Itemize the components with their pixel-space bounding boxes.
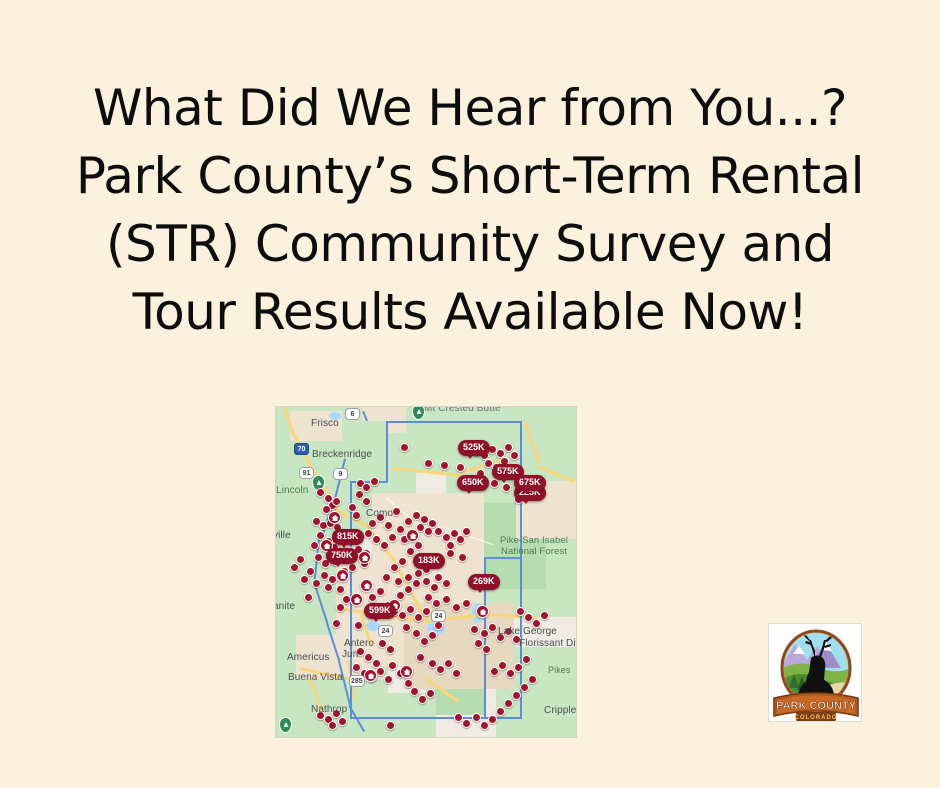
map-canvas: 525K 575K 650K 225K 675K 815K 750K 183K … [276,407,576,737]
str-house-marker[interactable] [358,551,371,564]
str-marker[interactable] [392,507,401,516]
str-marker[interactable] [396,525,405,534]
str-house-marker[interactable] [476,605,489,618]
park-county-logo[interactable]: PARK COUNTY COLORADO [768,623,862,722]
str-marker[interactable] [452,669,461,678]
price-bubble[interactable]: 269K [468,574,500,590]
map-place-label: Americus [287,652,329,663]
str-marker[interactable] [388,533,397,542]
str-marker[interactable] [414,613,423,622]
str-marker[interactable] [328,721,337,730]
str-marker[interactable] [376,667,385,676]
str-marker[interactable] [462,527,471,536]
price-bubble-label: 525K [463,442,485,452]
str-marker[interactable] [400,443,409,452]
str-marker[interactable] [416,653,425,662]
map-place-label: ville [275,530,291,541]
map-place-label: Cripple [544,705,576,716]
map-place-label: Divide [566,638,577,649]
map-place-label: Breckenridge [312,449,372,460]
park-county-logo-svg: PARK COUNTY COLORADO [769,624,863,723]
str-marker[interactable] [540,611,549,620]
str-marker[interactable] [370,477,379,486]
str-marker[interactable] [306,567,315,576]
str-marker[interactable] [490,479,499,488]
str-marker[interactable] [446,549,455,558]
str-marker[interactable] [406,547,415,556]
str-marker[interactable] [398,557,407,566]
str-marker[interactable] [522,655,531,664]
price-bubble[interactable]: 750K [326,548,358,564]
str-marker[interactable] [414,541,423,550]
str-marker[interactable] [390,563,399,572]
str-house-marker[interactable] [350,593,363,606]
str-marker[interactable] [412,629,421,638]
headline-line-1: What Did We Hear from You...? [0,74,940,142]
str-house-marker[interactable] [336,569,349,582]
price-bubble[interactable]: 525K [458,440,490,456]
str-marker[interactable] [434,621,443,630]
page-title: What Did We Hear from You...? Park Count… [0,74,940,346]
str-marker[interactable] [444,659,453,668]
price-bubble[interactable]: 183K [413,553,445,569]
str-marker[interactable] [428,631,437,640]
str-marker[interactable] [424,527,433,536]
str-marker[interactable] [300,575,309,584]
str-marker[interactable] [336,585,345,594]
highway-shield: 6 [345,408,360,420]
str-marker[interactable] [502,483,511,492]
price-bubble-label: 650K [462,477,484,487]
str-house-marker[interactable] [400,665,413,678]
str-location-map[interactable]: 525K 575K 650K 225K 675K 815K 750K 183K … [275,406,577,738]
str-marker[interactable] [396,591,405,600]
str-marker[interactable] [436,665,445,674]
str-marker[interactable] [336,603,345,612]
str-marker[interactable] [354,621,363,630]
highway-shield: 24 [378,625,393,637]
str-marker[interactable] [386,645,395,654]
str-marker[interactable] [426,689,435,698]
map-place-label: Nathrop [311,704,347,715]
price-bubble-label: 575K [497,466,519,476]
str-marker[interactable] [480,721,489,730]
str-marker[interactable] [488,715,497,724]
interstate-shield: 70 [294,443,309,455]
str-marker[interactable] [348,563,357,572]
str-marker[interactable] [394,577,403,586]
str-marker[interactable] [470,625,479,634]
str-marker[interactable] [404,517,413,526]
price-bubble-label: 269K [473,576,495,586]
map-forest-label: Pike-San Isabel National Forest [489,535,577,557]
str-marker[interactable] [398,611,407,620]
str-marker[interactable] [504,699,513,708]
str-marker[interactable] [324,583,333,592]
price-bubble-label: 599K [369,605,391,615]
str-marker[interactable] [352,511,361,520]
logo-title: PARK COUNTY [776,700,857,712]
str-marker[interactable] [458,553,467,562]
str-marker[interactable] [412,511,421,520]
str-house-marker[interactable] [360,579,373,592]
str-marker[interactable] [514,663,523,672]
str-marker[interactable] [332,497,341,506]
str-marker[interactable] [362,497,371,506]
price-bubble-label: 750K [331,550,353,560]
map-place-label: Frisco [311,418,339,429]
str-house-marker[interactable] [328,511,341,524]
str-marker[interactable] [440,461,449,470]
str-marker[interactable] [456,463,465,472]
str-marker[interactable] [382,573,391,582]
str-marker[interactable] [310,541,319,550]
highway-shield: 285 [349,675,365,687]
price-bubble[interactable]: 599K [364,603,396,619]
str-marker[interactable] [420,637,429,646]
price-bubble[interactable]: 650K [457,475,489,491]
str-marker[interactable] [380,541,389,550]
str-marker[interactable] [386,721,395,730]
str-marker[interactable] [410,687,419,696]
str-marker[interactable] [372,535,381,544]
price-bubble[interactable]: 675K [514,475,546,491]
str-marker[interactable] [364,529,373,538]
str-marker[interactable] [430,583,439,592]
str-marker[interactable] [462,599,471,608]
str-marker[interactable] [442,595,451,604]
str-marker[interactable] [402,623,411,632]
str-marker[interactable] [338,717,347,726]
str-marker[interactable] [462,719,471,728]
map-place-label: Buena Vista [288,672,343,683]
str-marker[interactable] [304,593,313,602]
str-house-marker[interactable] [406,529,419,542]
str-marker[interactable] [368,593,377,602]
logo-subtitle: COLORADO [795,715,838,721]
str-marker[interactable] [368,519,377,528]
str-marker[interactable] [528,675,537,684]
highway-shield: 24 [431,610,446,622]
map-place-label: Florissant [519,638,563,649]
str-house-marker[interactable] [364,669,377,682]
str-marker[interactable] [452,603,461,612]
str-marker[interactable] [404,573,413,582]
map-place-label: Jun [342,649,358,660]
map-place-label: Pikes [548,665,571,675]
str-marker[interactable] [404,585,413,594]
str-marker[interactable] [498,661,507,670]
str-marker[interactable] [422,607,431,616]
map-place-label: Mt Crested Butte [424,406,501,414]
str-marker[interactable] [290,563,299,572]
map-place-label: Antero [344,638,374,649]
str-marker[interactable] [412,579,421,588]
str-marker[interactable] [512,691,521,700]
str-marker[interactable] [424,459,433,468]
str-marker[interactable] [384,675,393,684]
headline-line-2: Park County’s Short-Term Rental [0,142,940,210]
str-marker[interactable] [420,515,429,524]
str-marker[interactable] [456,535,465,544]
str-marker[interactable] [520,683,529,692]
map-place-label: Como [366,508,393,519]
headline-line-3: (STR) Community Survey and [0,210,940,278]
str-marker[interactable] [506,669,515,678]
headline-line-4: Tour Results Available Now! [0,278,940,346]
highway-shield: 91 [299,467,314,479]
str-marker[interactable] [388,661,397,670]
str-marker[interactable] [332,619,341,628]
str-marker[interactable] [376,587,385,596]
str-marker[interactable] [490,667,499,676]
map-place-label: anite [275,601,295,612]
county-boundary-east-step [484,557,522,559]
price-bubble-label: 815K [337,531,359,541]
price-bubble-label: 675K [519,477,541,487]
highway-shield: 9 [333,468,348,480]
str-marker[interactable] [406,605,415,614]
str-marker[interactable] [488,623,497,632]
str-marker[interactable] [312,579,321,588]
str-marker[interactable] [510,451,519,460]
str-marker[interactable] [362,483,371,492]
str-marker[interactable] [418,695,427,704]
price-bubble-label: 183K [418,555,440,565]
str-marker[interactable] [432,599,441,608]
str-marker[interactable] [480,629,489,638]
str-marker[interactable] [482,645,491,654]
map-place-label: Lake George [498,626,557,637]
map-place-label: Lincoln [276,485,308,496]
str-marker[interactable] [296,555,305,564]
price-bubble[interactable]: 815K [332,529,364,545]
str-marker[interactable] [442,579,451,588]
str-marker[interactable] [384,521,393,530]
str-marker[interactable] [472,713,481,722]
str-marker[interactable] [496,707,505,716]
